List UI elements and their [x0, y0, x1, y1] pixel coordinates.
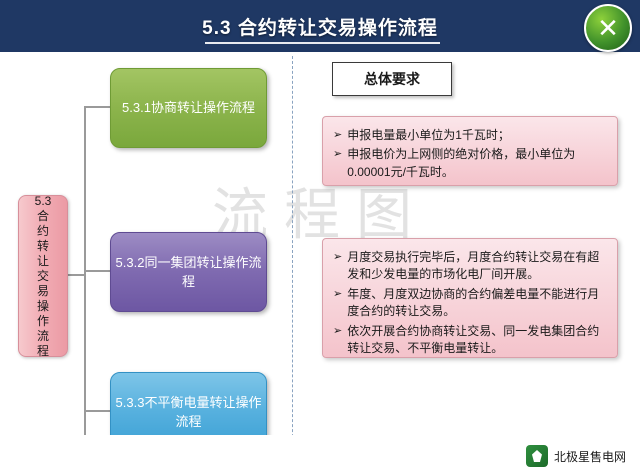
arrow-bullet-icon: ➢	[333, 249, 342, 266]
flow-node-same-group-transfer[interactable]: 5.3.2同一集团转让操作流程	[110, 232, 267, 312]
footer-bar: 北极星售电网	[0, 435, 640, 475]
connector-branch-3	[84, 410, 110, 412]
arrow-bullet-icon: ➢	[333, 286, 342, 303]
list-item: ➢ 申报电价为上网侧的绝对价格，最小单位为0.00001元/千瓦时。	[333, 146, 605, 181]
list-item: ➢ 年度、月度双边协商的合约偏差电量不能进行月度合约的转让交易。	[333, 286, 605, 321]
green-globe-logo-icon: ✕	[584, 4, 632, 52]
arrow-bullet-icon: ➢	[333, 146, 342, 163]
list-item: ➢ 申报电量最小单位为1千瓦时；	[333, 127, 605, 144]
overall-requirements-label: 总体要求	[364, 69, 420, 89]
arrow-bullet-icon: ➢	[333, 323, 342, 340]
title-underline	[205, 42, 440, 44]
bullet-text: 申报电量最小单位为1千瓦时；	[347, 127, 605, 144]
footer-brand-label: 北极星售电网	[554, 448, 626, 465]
flow-node-label: 5.3.1协商转让操作流程	[122, 98, 255, 118]
flow-node-label: 5.3.2同一集团转让操作流程	[111, 253, 266, 292]
connector-branch-1	[84, 106, 110, 108]
flow-node-label: 5.3.3不平衡电量转让操作流程	[111, 393, 266, 432]
page-title: 5.3 合约转让交易操作流程	[0, 0, 640, 52]
requirements-panel-declaration: ➢ 申报电量最小单位为1千瓦时； ➢ 申报电价为上网侧的绝对价格，最小单位为0.…	[322, 116, 618, 186]
bullet-text: 申报电价为上网侧的绝对价格，最小单位为0.00001元/千瓦时。	[347, 146, 605, 181]
bullet-text: 年度、月度双边协商的合约偏差电量不能进行月度合约的转让交易。	[347, 286, 605, 321]
list-item: ➢ 月度交易执行完毕后，月度合约转让交易在有超发和少发电量的市场化电厂间开展。	[333, 249, 605, 284]
overall-requirements-title: 总体要求	[332, 62, 452, 96]
connector-root-stub	[66, 274, 84, 276]
section-divider	[292, 56, 293, 452]
flow-node-negotiated-transfer[interactable]: 5.3.1协商转让操作流程	[110, 68, 267, 148]
requirements-panel-rules: ➢ 月度交易执行完毕后，月度合约转让交易在有超发和少发电量的市场化电厂间开展。 …	[322, 238, 618, 358]
list-item: ➢ 依次开展合约协商转让交易、同一发电集团合约转让交易、不平衡电量转让。	[333, 323, 605, 358]
connector-branch-2	[84, 270, 110, 272]
logo-glyph: ✕	[586, 6, 630, 50]
connector-vertical	[84, 106, 86, 446]
bullet-text: 月度交易执行完毕后，月度合约转让交易在有超发和少发电量的市场化电厂间开展。	[347, 249, 605, 284]
bullet-text: 依次开展合约协商转让交易、同一发电集团合约转让交易、不平衡电量转让。	[347, 323, 605, 358]
root-node-label: 5.3合约转让交易操作流程	[34, 194, 52, 359]
root-node[interactable]: 5.3合约转让交易操作流程	[18, 195, 68, 357]
footer-brand: 北极星售电网	[526, 445, 626, 467]
star-badge-icon	[526, 445, 548, 467]
arrow-bullet-icon: ➢	[333, 127, 342, 144]
